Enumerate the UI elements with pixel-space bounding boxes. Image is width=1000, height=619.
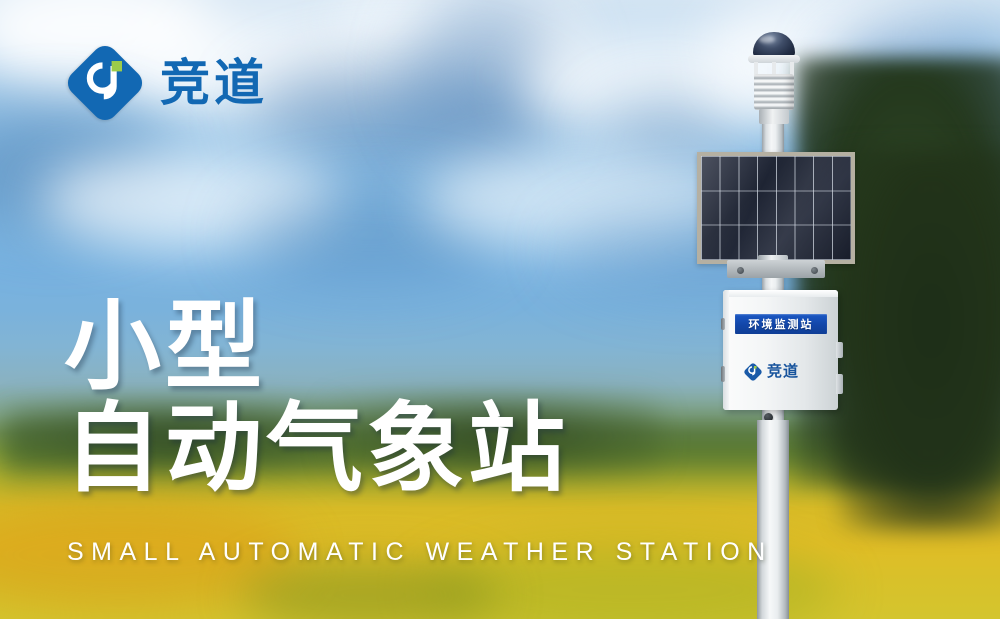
bracket-bolt xyxy=(737,267,744,274)
mounting-pole-lower xyxy=(757,420,789,619)
control-enclosure: 环境监测站 竞道 xyxy=(723,290,838,410)
radiation-shield-fins xyxy=(754,74,794,110)
hero-banner: 环境监测站 竞道 xyxy=(0,0,1000,619)
enclosure-vent xyxy=(721,318,725,330)
jingdao-diamond-logo-icon xyxy=(743,362,762,381)
enclosure-left-edge xyxy=(723,290,729,410)
bracket-bolt xyxy=(811,267,818,274)
hero-title: 小型 自动气象站 xyxy=(64,296,569,500)
solar-panel xyxy=(697,152,855,264)
enclosure-label-text: 环境监测站 xyxy=(749,316,814,332)
solar-panel-glare xyxy=(701,156,851,260)
enclosure-brand-name: 竞道 xyxy=(767,364,799,379)
enclosure-vent xyxy=(721,366,725,382)
brand-logo[interactable]: 竞道 xyxy=(66,44,268,122)
hero-title-line-2: 自动气象站 xyxy=(64,398,569,500)
solar-panel-cells xyxy=(701,156,851,260)
hero-subtitle: SMALL AUTOMATIC WEATHER STATION xyxy=(67,538,773,567)
enclosure-side-tab xyxy=(836,342,843,358)
brand-name: 竞道 xyxy=(160,58,268,108)
enclosure-brand-logo: 竞道 xyxy=(743,362,799,381)
enclosure-label-band: 环境监测站 xyxy=(735,314,827,334)
background-tree-shadow xyxy=(836,150,1000,530)
enclosure-side-tab xyxy=(836,374,843,394)
sensor-base xyxy=(759,109,789,124)
ultrasonic-weather-sensor xyxy=(745,32,803,124)
enclosure-top-edge xyxy=(723,290,838,297)
hero-title-line-1: 小型 xyxy=(64,296,569,398)
jingdao-diamond-logo-icon xyxy=(66,44,144,122)
